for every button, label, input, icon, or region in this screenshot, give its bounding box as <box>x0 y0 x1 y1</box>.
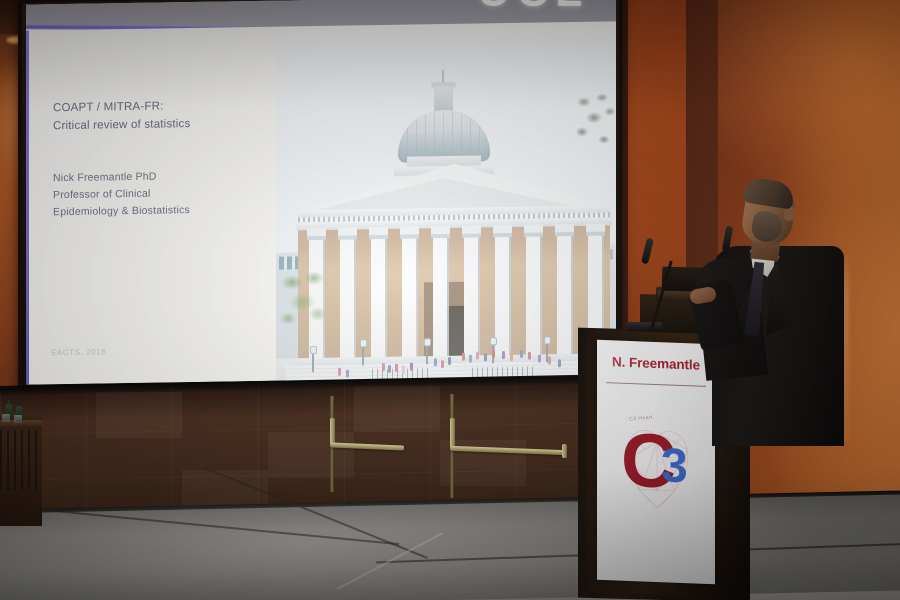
person-on-steps <box>441 360 444 368</box>
conference-photo-scene: UCL <box>0 0 900 600</box>
slide-presenter-block: Nick Freemantle PhD Professor of Clinica… <box>53 166 293 221</box>
person-on-steps <box>382 363 385 371</box>
corinthian-columns <box>298 225 610 364</box>
handrail-vertical-right[interactable] <box>450 418 455 448</box>
person-on-steps <box>502 351 505 359</box>
person-on-steps <box>558 359 561 367</box>
wall-tile-patch <box>268 432 354 478</box>
person-on-steps <box>538 355 541 363</box>
tree-foliage-upper-right <box>572 91 616 164</box>
person-on-steps <box>434 358 437 366</box>
lamp-post <box>362 345 364 365</box>
tree-foliage-left <box>280 268 332 339</box>
person-on-steps <box>346 370 349 378</box>
lamp-post <box>312 352 314 372</box>
ucl-portico-photo <box>276 35 616 380</box>
person-on-steps <box>492 350 495 358</box>
projection-screen-surface: UCL <box>26 0 616 385</box>
side-table-frame <box>0 430 40 490</box>
lamp-post-head <box>424 338 431 346</box>
person-on-steps <box>476 352 479 360</box>
overscan-cropped-text: UCL <box>477 0 589 17</box>
person-on-steps <box>484 353 487 361</box>
person-on-steps <box>338 368 341 376</box>
dome-ribs <box>398 111 490 160</box>
c3-logo-numeral-3: 3 <box>661 442 688 491</box>
drinking-glass <box>14 415 22 423</box>
drinking-glass <box>2 414 10 422</box>
person-on-steps <box>448 357 451 365</box>
water-bottle-neck <box>8 400 10 405</box>
slide-title-line-2: Critical review of statistics <box>53 114 293 135</box>
person-on-steps <box>402 366 405 374</box>
lamp-post-head <box>360 339 367 347</box>
lamp-post <box>426 344 428 364</box>
lamp-post-head <box>490 337 497 345</box>
person-on-steps <box>528 352 531 360</box>
wall-tile-patch <box>96 392 182 438</box>
microphone-base-left <box>626 322 662 331</box>
sign-divider-rule <box>606 382 706 387</box>
slide-left-edge-glow <box>26 31 29 385</box>
person-on-steps <box>548 356 551 364</box>
person-on-steps <box>410 363 413 371</box>
person-on-steps <box>469 355 472 363</box>
presenter-department: Epidemiology & Biostatistics <box>53 200 293 221</box>
slide-title: COAPT / MITRA-FR: Critical review of sta… <box>53 96 293 135</box>
presentation-slide: COAPT / MITRA-FR: Critical review of sta… <box>26 21 616 384</box>
c3-logo: C3 Heart C 3 <box>597 392 715 583</box>
speaker-name-plate: N. Freemantle <box>597 354 715 374</box>
slide-footer-credit: EACTS, 2018 <box>51 347 107 357</box>
lamp-post-head <box>310 346 317 354</box>
person-on-steps <box>395 364 398 372</box>
person-on-steps <box>388 365 391 373</box>
pediment-tympanum <box>316 176 572 210</box>
person-on-steps <box>462 353 465 361</box>
lamp-post-head <box>544 336 551 344</box>
wall-tile-patch <box>354 386 440 432</box>
person-on-steps <box>520 350 523 358</box>
handrail-vertical-far-right[interactable] <box>562 444 567 458</box>
person-on-steps <box>510 353 513 361</box>
lectern-name-sign: N. Freemantle <box>597 340 715 585</box>
